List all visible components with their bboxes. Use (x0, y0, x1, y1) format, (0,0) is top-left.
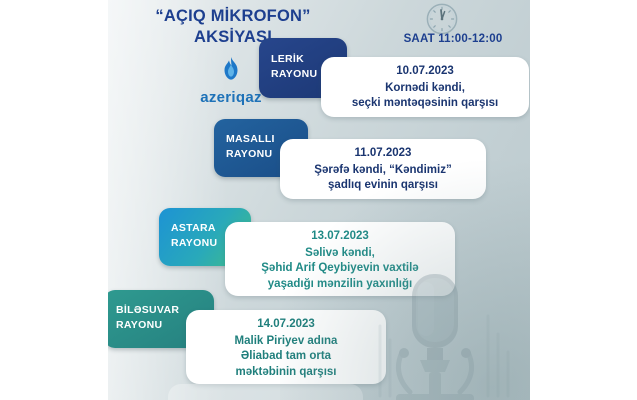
event-date: 13.07.2023 (235, 229, 445, 245)
event-card: 14.07.2023 Malik Piriyev adına Əliabad t… (186, 310, 386, 384)
event-card-partial (168, 384, 363, 400)
screenshot-canvas: “AÇIQ MİKROFON” AKSİYASI azeriqaz (0, 0, 637, 400)
event-place-line2: şadlıq evinin qarşısı (290, 178, 476, 194)
event-place-line2: Əliabad tam orta (196, 349, 376, 365)
microphone-icon (372, 256, 522, 400)
event-place-line1: Şərəfə kəndi, “Kəndimiz” (290, 163, 476, 179)
event-place-line2: seçki məntəqəsinin qarşısı (331, 96, 519, 112)
event-date: 11.07.2023 (290, 146, 476, 162)
time-label: SAAT 11:00-12:00 (363, 33, 530, 45)
event-card: 11.07.2023 Şərəfə kəndi, “Kəndimiz” şadl… (280, 139, 486, 199)
event-place-line1: Kornədi kəndi, (331, 81, 519, 97)
poster-panel: “AÇIQ MİKROFON” AKSİYASI azeriqaz (108, 0, 530, 400)
event-place-line1: Malik Piriyev adına (196, 334, 376, 350)
event-card: 10.07.2023 Kornədi kəndi, seçki məntəqəs… (321, 57, 529, 117)
event-place-line3: məktəbinin qarşısı (196, 365, 376, 381)
event-date: 10.07.2023 (331, 64, 519, 80)
poster-title-line1: “AÇIQ MİKROFON” (155, 7, 310, 25)
event-date: 14.07.2023 (196, 317, 376, 333)
